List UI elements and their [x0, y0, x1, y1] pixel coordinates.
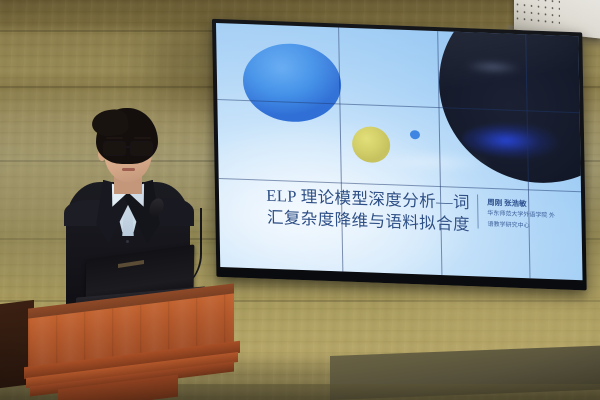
video-wall[interactable]: ELP 理论模型深度分析—词 汇复杂度降维与语料拟合度 周刚 张浩敏 华东师范大… [216, 23, 583, 288]
slide-byline: 周刚 张浩敏 华东师范大学外语学院 外 语教学研究中心 [487, 197, 574, 233]
glasses-icon [102, 141, 156, 154]
perforated-panel-icon [514, 0, 560, 28]
photo-scene: ELP 理论模型深度分析—词 汇复杂度降维与语料拟合度 周刚 张浩敏 华东师范大… [0, 0, 600, 400]
glasses-bridge [124, 146, 131, 148]
glasses-lens-right [130, 141, 153, 156]
screen-surface: ELP 理论模型深度分析—词 汇复杂度降维与语料拟合度 周刚 张浩敏 华东师范大… [216, 23, 583, 280]
slide-authors: 周刚 张浩敏 [487, 197, 573, 211]
glasses-lens-left [103, 141, 126, 156]
slide-shape-small-dot [410, 130, 420, 139]
podium [28, 296, 246, 400]
jacket-button [126, 240, 129, 243]
presenter-mouth [122, 168, 135, 171]
slide-title: ELP 理论模型深度分析—词 汇复杂度降维与语料拟合度 [263, 185, 474, 237]
slide-affiliation-line-1: 华东师范大学外语学院 外 [487, 210, 573, 222]
